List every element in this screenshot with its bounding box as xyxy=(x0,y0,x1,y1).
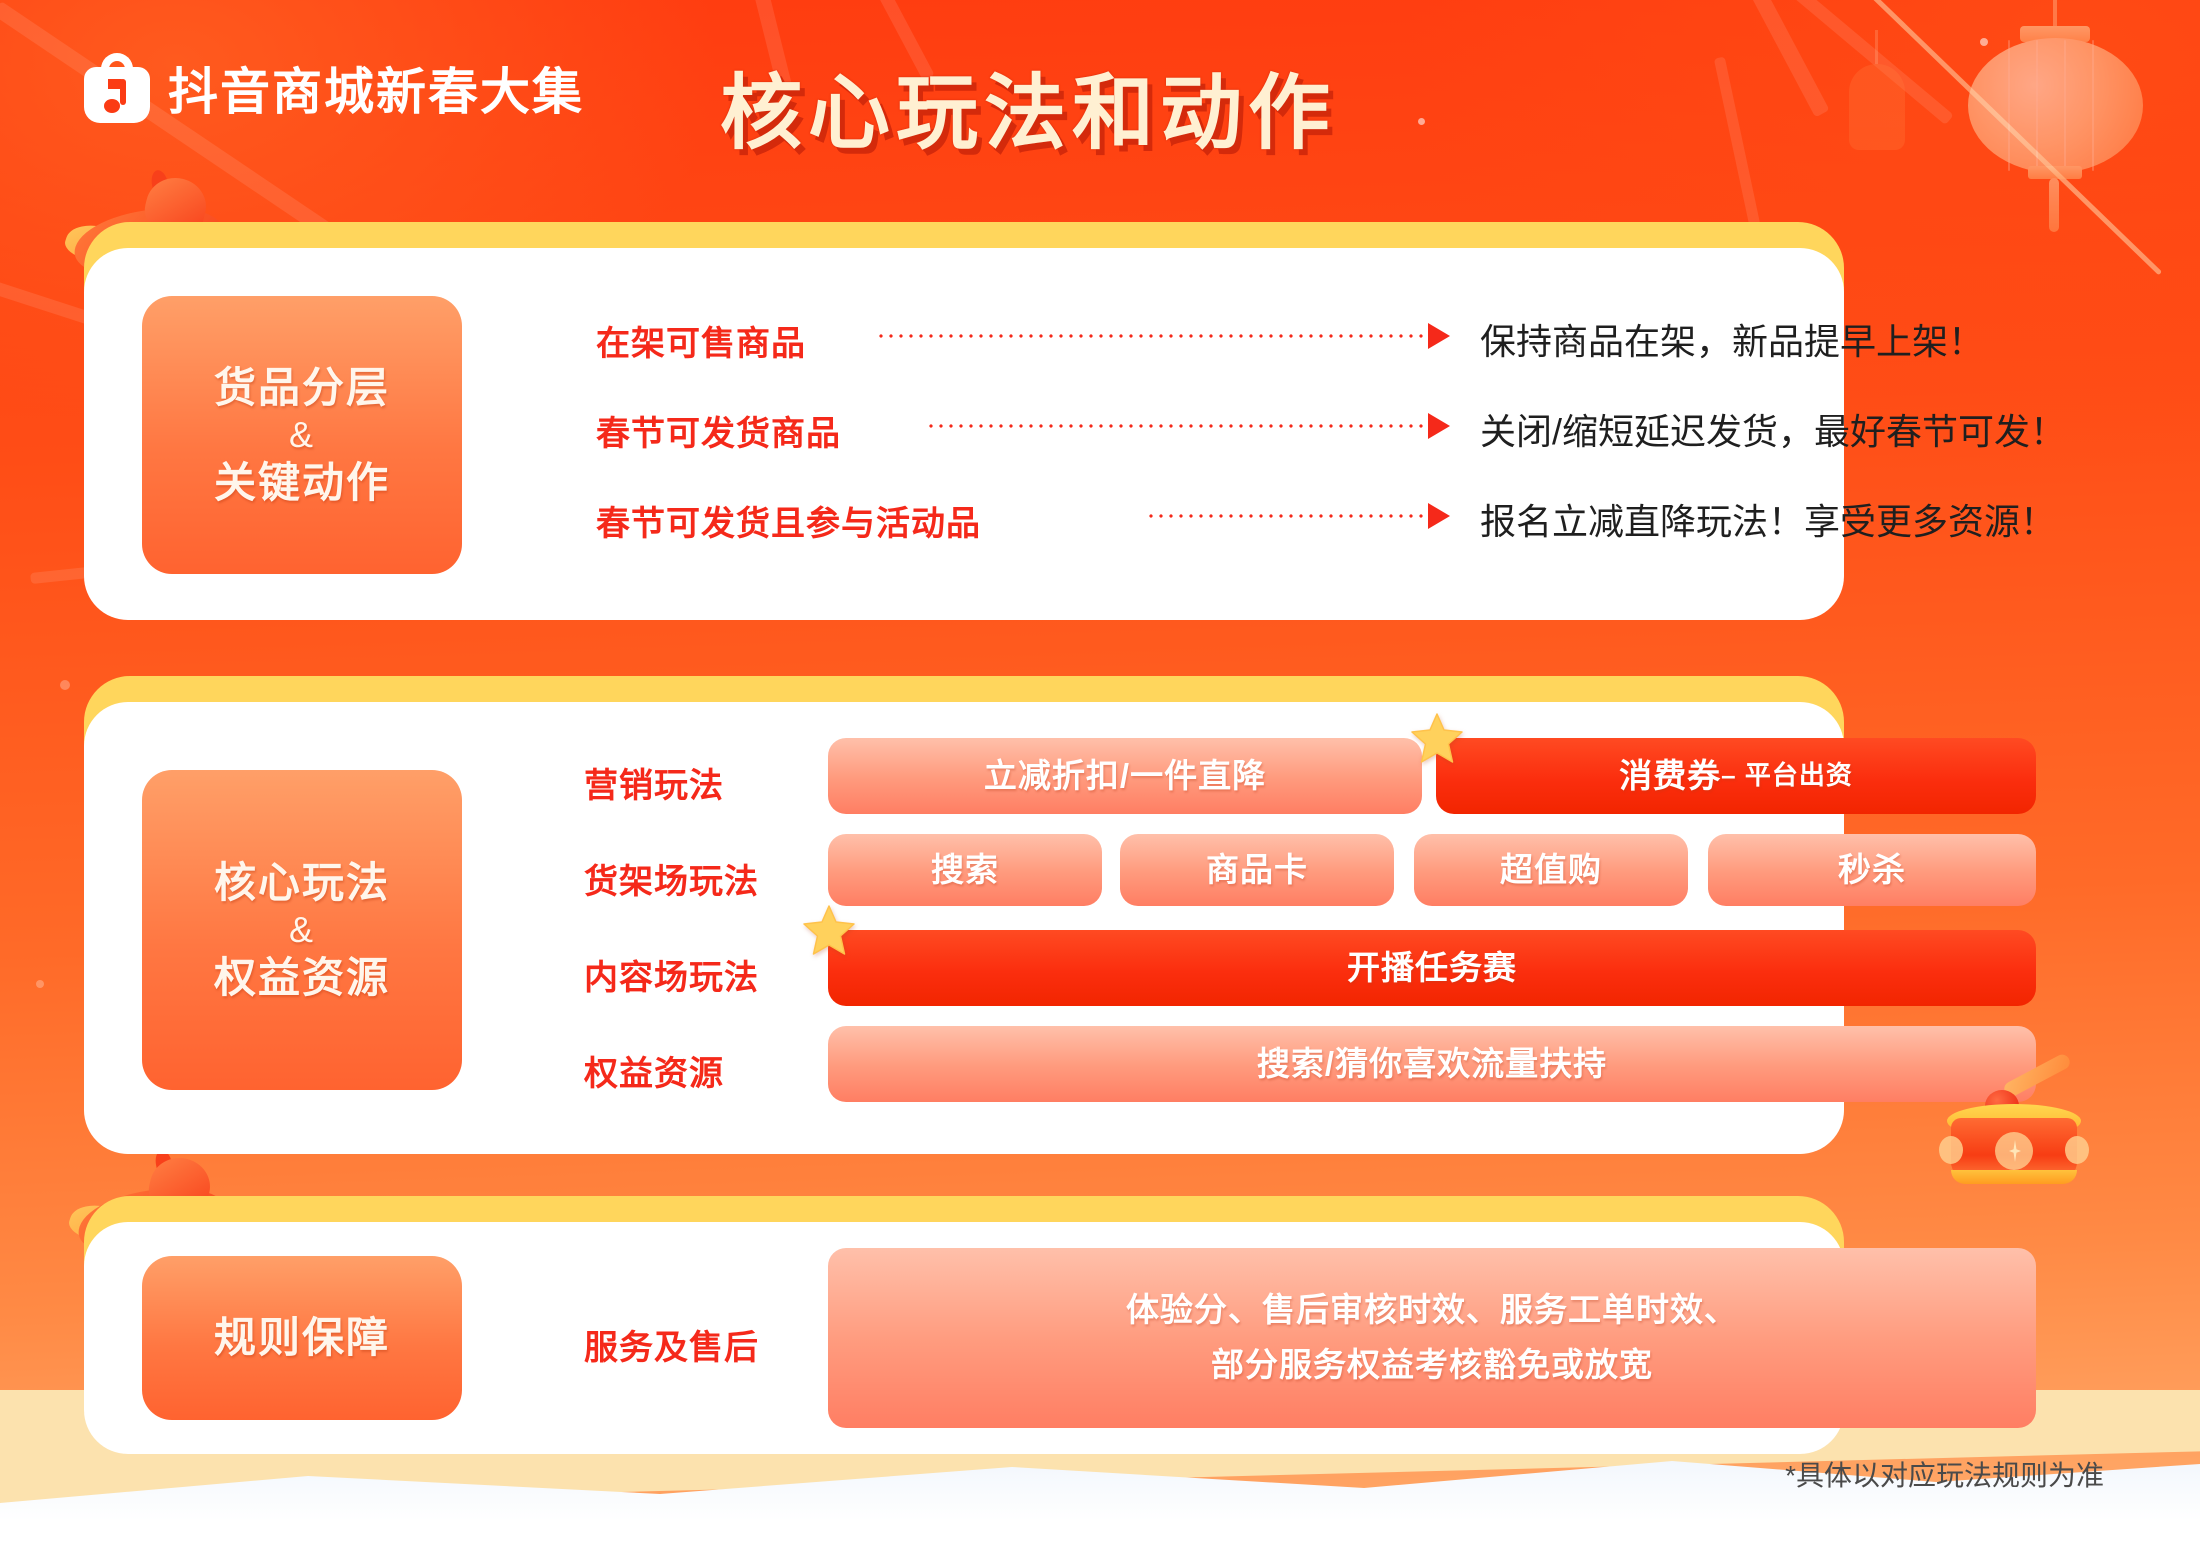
pill-instant-discount[interactable]: 立减折扣/一件直降 xyxy=(828,738,1422,814)
row-text-on-shelf: 保持商品在架，新品提早上架！ xyxy=(1480,313,1984,365)
footnote: *具体以对应玩法规则为准 xyxy=(1785,1454,2104,1494)
shopping-bag-music-note-icon xyxy=(84,53,150,123)
pill-value-buy[interactable]: 超值购 xyxy=(1414,834,1688,906)
page-title: 核心玩法和动作 xyxy=(720,46,1336,165)
pillar-goods-tiering: 货品分层 & 关键动作 xyxy=(142,296,462,574)
pillar-line-1: 核心玩法 xyxy=(214,857,390,908)
row-label-benefits: 权益资源 xyxy=(584,1046,724,1095)
row-label-cny-shippable: 春节可发货商品 xyxy=(596,406,841,455)
row-label-service: 服务及售后 xyxy=(584,1320,759,1369)
pill-label: 超值购 xyxy=(1500,848,1602,893)
section-card-rules: 规则保障 服务及售后 体验分、售后审核时效、服务工单时效、 部分服务权益考核豁免… xyxy=(84,1222,1844,1454)
pillar-amp: & xyxy=(289,908,315,952)
pillar-line-1: 规则保障 xyxy=(214,1312,390,1363)
pillar-core-playbook: 核心玩法 & 权益资源 xyxy=(142,770,462,1090)
chinese-drum-icon xyxy=(1939,1074,2089,1194)
pill-flash-sale[interactable]: 秒杀 xyxy=(1708,834,2036,906)
dotted-connector xyxy=(1146,514,1426,518)
gold-star-icon xyxy=(1410,712,1464,764)
dotted-connector xyxy=(876,334,1426,338)
pill-label-line-1: 体验分、售后审核时效、服务工单时效、 xyxy=(1126,1288,1738,1333)
pill-product-card[interactable]: 商品卡 xyxy=(1120,834,1394,906)
row-label-marketing: 营销玩法 xyxy=(584,758,724,807)
pill-service-aftersales[interactable]: 体验分、售后审核时效、服务工单时效、 部分服务权益考核豁免或放宽 xyxy=(828,1248,2036,1428)
pillar-line-2: 权益资源 xyxy=(214,952,390,1003)
gold-star-icon xyxy=(802,904,856,956)
pill-label: 立减折扣/一件直降 xyxy=(984,754,1266,799)
row-text-cny-campaign: 报名立减直降玩法！享受更多资源！ xyxy=(1480,493,2056,545)
brand-logo-text: 抖音商城新春大集 xyxy=(168,52,584,124)
arrow-head-icon xyxy=(1428,413,1450,439)
dotted-connector xyxy=(926,424,1426,428)
pillar-line-1: 货品分层 xyxy=(214,362,390,413)
arrow-head-icon xyxy=(1428,323,1450,349)
pill-sublabel: – 平台出资 xyxy=(1721,758,1853,793)
brand-logo: 抖音商城新春大集 xyxy=(84,52,584,124)
pill-label: 消费券 xyxy=(1619,754,1721,799)
pill-search[interactable]: 搜索 xyxy=(828,834,1102,906)
row-label-content: 内容场玩法 xyxy=(584,950,759,999)
row-label-on-shelf: 在架可售商品 xyxy=(596,316,806,365)
pillar-amp: & xyxy=(289,413,315,457)
pill-label: 商品卡 xyxy=(1206,848,1308,893)
pill-label-line-2: 部分服务权益考核豁免或放宽 xyxy=(1211,1343,1653,1388)
arrow-head-icon xyxy=(1428,503,1450,529)
section-card-goods-tiering: 货品分层 & 关键动作 在架可售商品 保持商品在架，新品提早上架！ 春节可发货商… xyxy=(84,248,1844,620)
pill-label: 搜索 xyxy=(931,848,999,893)
pill-label: 搜索/猜你喜欢流量扶持 xyxy=(1257,1042,1607,1087)
pillar-rules-guarantee: 规则保障 xyxy=(142,1256,462,1420)
page-header: 抖音商城新春大集 核心玩法和动作 xyxy=(0,0,2200,180)
pill-traffic-support[interactable]: 搜索/猜你喜欢流量扶持 xyxy=(828,1026,2036,1102)
pill-live-task-race[interactable]: 开播任务赛 xyxy=(828,930,2036,1006)
row-text-cny-shippable: 关闭/缩短延迟发货，最好春节可发！ xyxy=(1480,403,2066,455)
row-label-cny-campaign: 春节可发货且参与活动品 xyxy=(596,496,981,545)
row-label-shelf: 货架场玩法 xyxy=(584,854,759,903)
pillar-line-2: 关键动作 xyxy=(214,457,390,508)
pill-label: 开播任务赛 xyxy=(1347,946,1517,991)
section-card-core-playbook: 核心玩法 & 权益资源 营销玩法 立减折扣/一件直降 消费券– 平台出资 货架场… xyxy=(84,702,1844,1154)
pill-label: 秒杀 xyxy=(1838,848,1906,893)
pill-consumer-voucher[interactable]: 消费券– 平台出资 xyxy=(1436,738,2036,814)
